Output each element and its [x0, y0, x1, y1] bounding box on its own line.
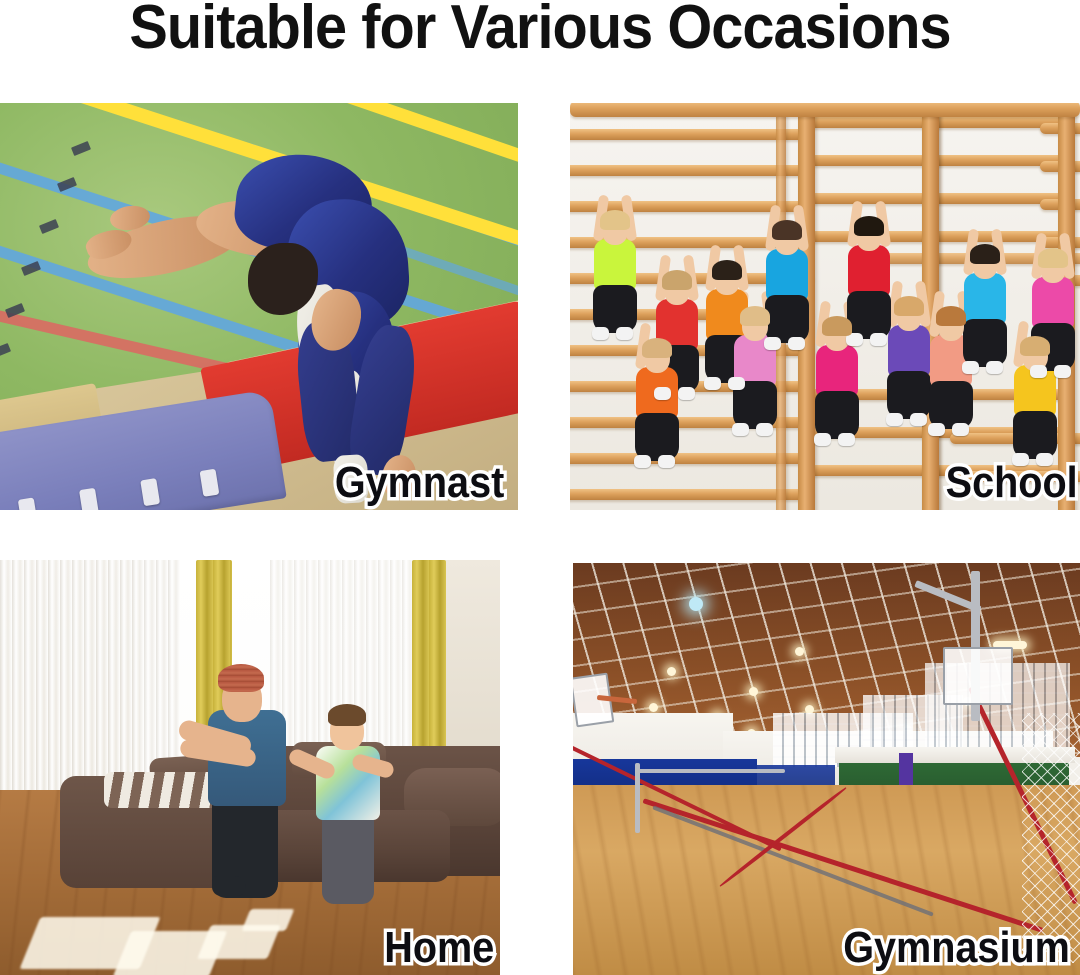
caption-gymnast: Gymnast — [335, 460, 504, 506]
ceiling-light — [649, 703, 658, 712]
page-title: Suitable for Various Occasions — [38, 0, 1042, 60]
ceiling-light — [749, 687, 758, 696]
backboard — [943, 647, 1013, 705]
volleyball-net-cable — [635, 769, 785, 773]
panel-home: Home — [0, 560, 500, 975]
panel-gymnast: Gymnast — [0, 103, 518, 510]
ceiling-light — [689, 597, 703, 611]
caption-school: School — [946, 460, 1078, 506]
panel-gymnasium: Gymnasium — [573, 563, 1080, 975]
promo-collage: Suitable for Various Occasions — [0, 0, 1080, 975]
caption-home: Home — [384, 925, 494, 971]
ceiling-light — [667, 667, 676, 676]
volleyball-post — [635, 763, 640, 833]
ceiling-light — [795, 647, 804, 656]
sunlight-patch — [242, 909, 295, 931]
caption-gymnasium: Gymnasium — [843, 925, 1070, 971]
panel-school: School — [570, 103, 1080, 510]
